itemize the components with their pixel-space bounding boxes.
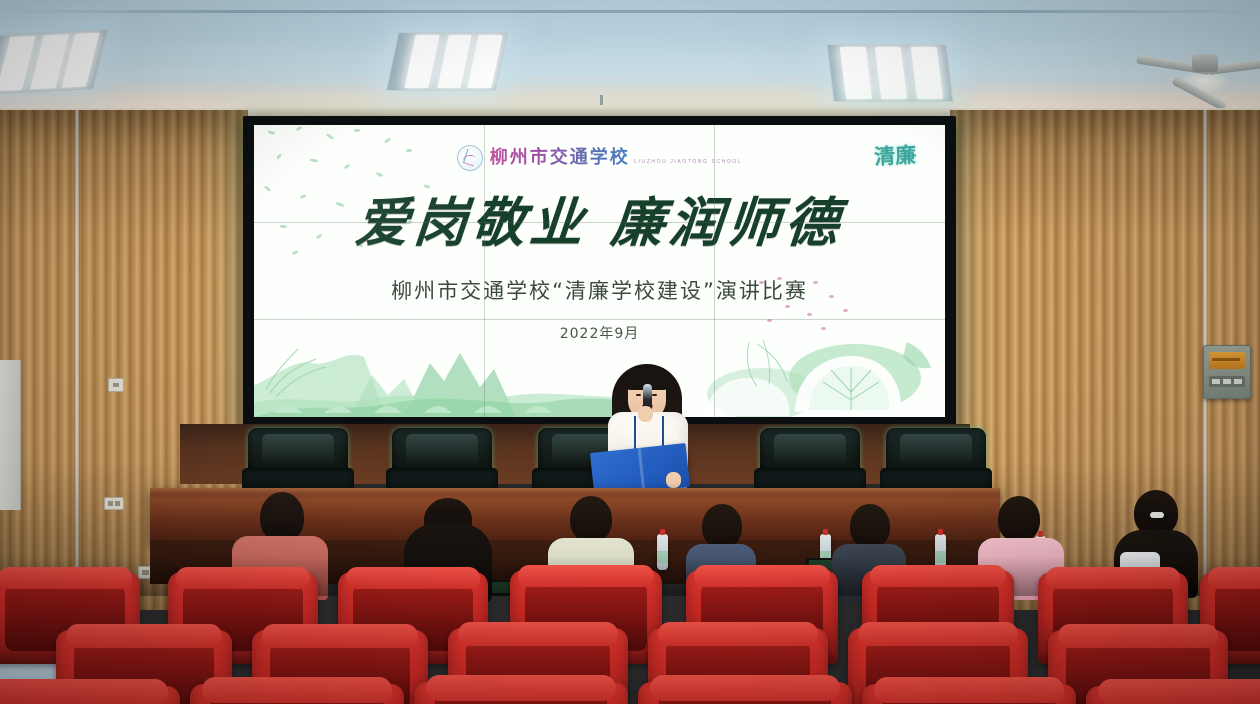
ceiling-fixture-dot	[600, 95, 603, 105]
wall-control-panel[interactable]	[1203, 345, 1251, 399]
stage-chairs	[180, 424, 970, 494]
executive-chair	[880, 428, 992, 494]
slide-header: 柳州市交通学校 LIUZHOU JIAOTONG SCHOOL	[254, 145, 945, 176]
control-panel-buttons[interactable]	[1209, 376, 1245, 387]
photo-scene: 柳州市交通学校 LIUZHOU JIAOTONG SCHOOL 清廉 爱岗敬业 …	[0, 0, 1260, 704]
school-emblem-icon	[457, 145, 483, 171]
wall-outlet-1	[104, 497, 124, 510]
control-panel-display	[1209, 352, 1245, 369]
executive-chair	[386, 428, 498, 494]
ceiling-fan-icon	[1146, 54, 1260, 94]
ceiling-light-panel-3	[826, 44, 953, 102]
ceiling-seam	[0, 10, 1260, 13]
left-wall-white-fixture	[0, 360, 21, 510]
integrity-seal: 清廉	[872, 142, 921, 200]
speaker-hand-folder	[666, 472, 681, 488]
slide-subtitle: 柳州市交通学校“清廉学校建设”演讲比赛	[254, 275, 945, 305]
executive-chair	[754, 428, 866, 494]
slide-title: 爱岗敬业 廉润师德	[254, 197, 945, 250]
executive-chair	[242, 428, 354, 494]
school-name-en: LIUZHOU JIAOTONG SCHOOL	[634, 159, 742, 165]
ceiling	[0, 0, 1260, 118]
slide-date: 2022年9月	[254, 323, 945, 343]
wall-switch[interactable]	[108, 378, 124, 392]
ceiling-light-panel-1	[0, 29, 108, 95]
ceiling-light-panel-2	[386, 32, 509, 91]
school-name-cn: 柳州市交通学校	[490, 147, 630, 168]
